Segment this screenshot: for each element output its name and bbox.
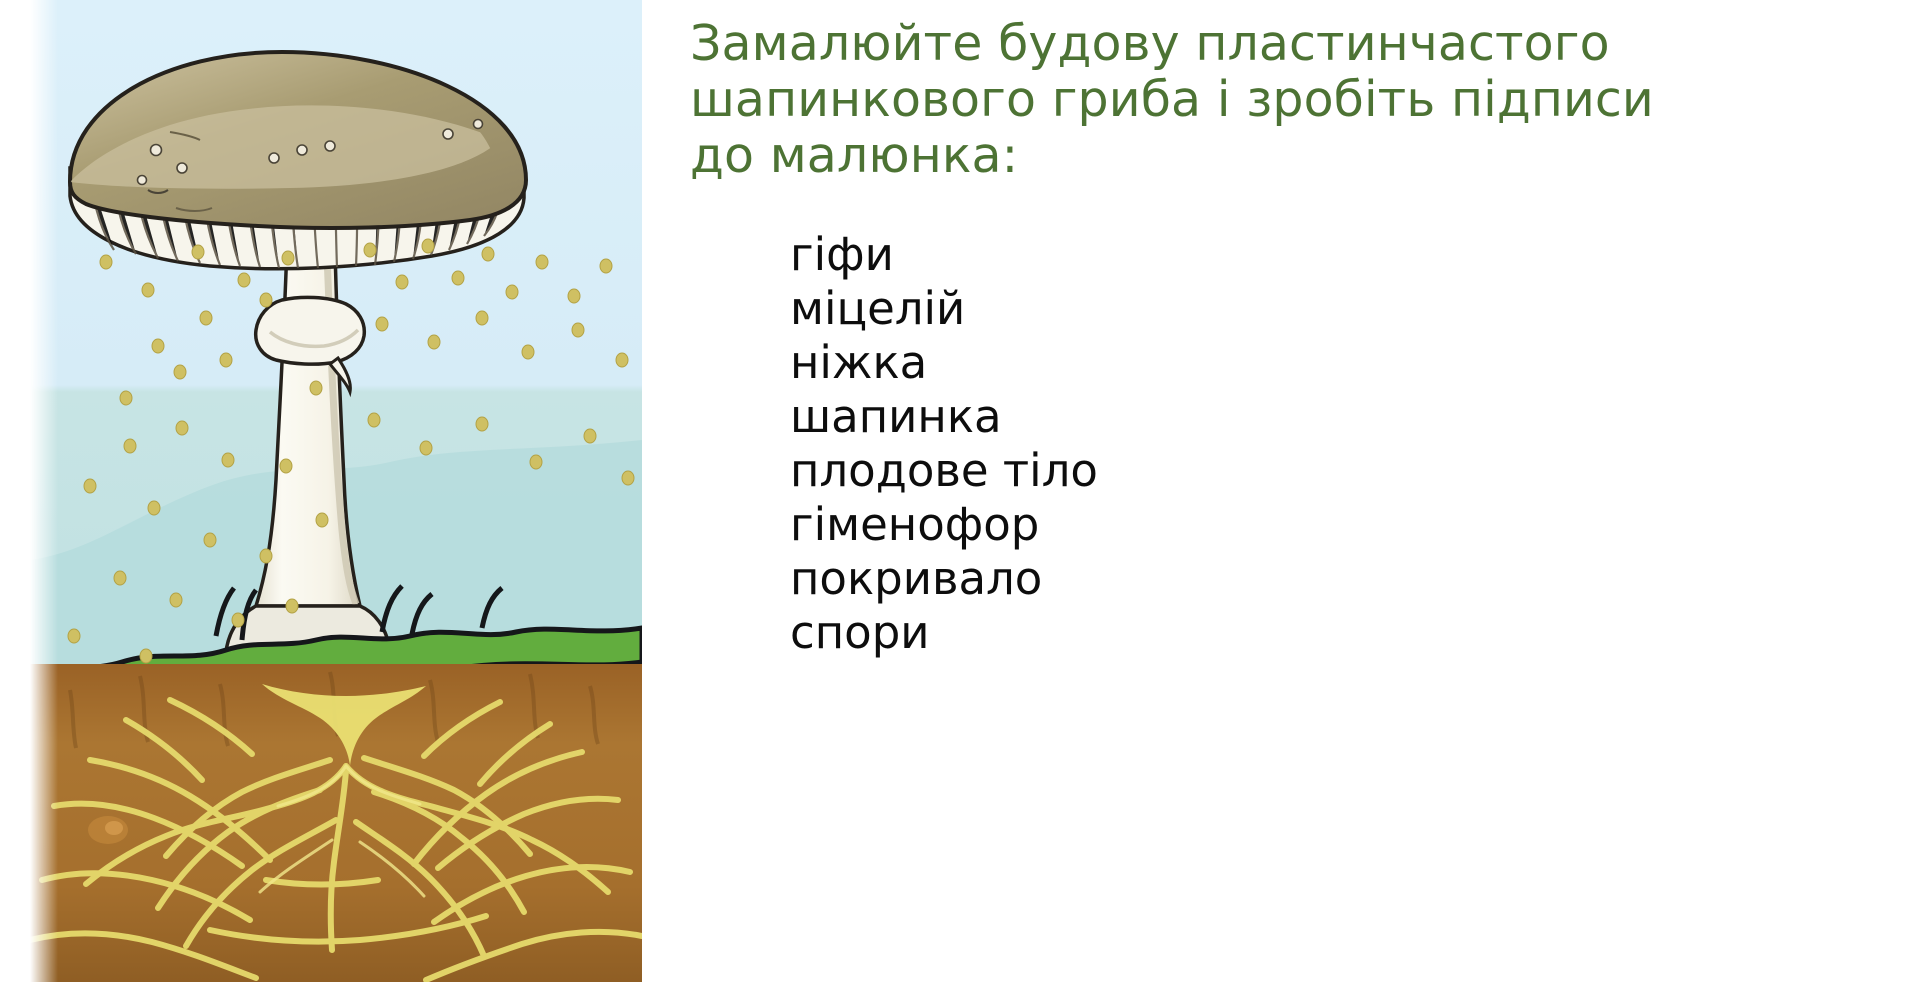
list-item: шапинка xyxy=(790,390,1690,444)
mushroom-diagram-svg xyxy=(30,0,642,982)
list-item: гіменофор xyxy=(790,498,1690,552)
heading-line-2: шапинкового гриба і зробіть підписи xyxy=(690,72,1860,128)
heading-line-3: до малюнка: xyxy=(690,128,1860,184)
list-item: ніжка xyxy=(790,336,1690,390)
list-item: гіфи xyxy=(790,228,1690,282)
list-item: покривало xyxy=(790,552,1690,606)
mushroom-ring-annulus xyxy=(256,297,365,364)
list-item: спори xyxy=(790,606,1690,660)
list-item: міцелій xyxy=(790,282,1690,336)
term-list: гіфи міцелій ніжка шапинка плодове тіло … xyxy=(790,228,1690,660)
list-item: плодове тіло xyxy=(790,444,1690,498)
heading-line-1: Замалюйте будову пластинчастого xyxy=(690,16,1860,72)
mushroom-illustration xyxy=(30,0,642,982)
text-column: Замалюйте будову пластинчастого шапинков… xyxy=(690,0,1900,982)
instruction-heading: Замалюйте будову пластинчастого шапинков… xyxy=(690,16,1860,184)
